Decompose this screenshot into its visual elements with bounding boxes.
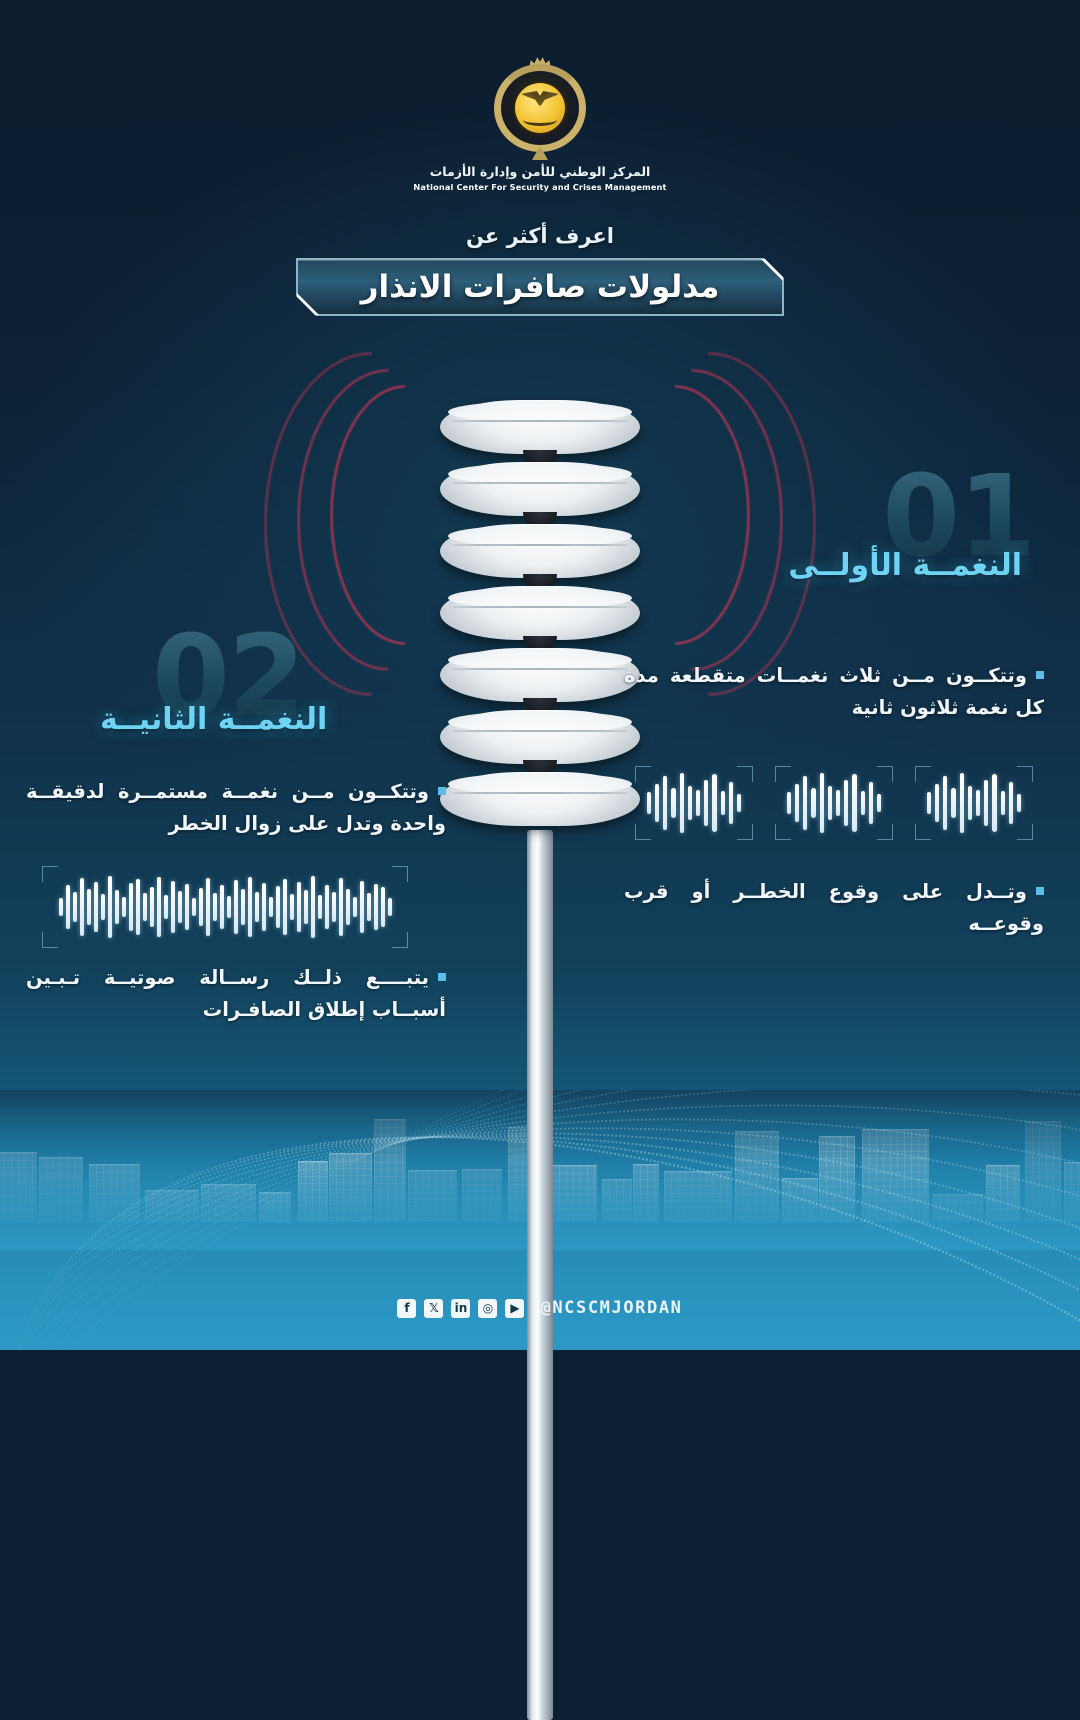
speaker-band bbox=[452, 544, 628, 546]
siren-pole bbox=[527, 830, 553, 1720]
waveform-bar bbox=[360, 881, 364, 933]
jordan-coat-of-arms-icon bbox=[492, 58, 588, 154]
waveform-bar bbox=[828, 786, 832, 820]
waveform-bar bbox=[688, 786, 692, 820]
siren-speaker-disc bbox=[440, 648, 640, 702]
footer-social-bar: f𝕏in◎▶ @NCSCMJORDAN bbox=[0, 1298, 1080, 1318]
waveform-bar bbox=[968, 786, 972, 820]
social-handle: @NCSCMJORDAN bbox=[540, 1298, 682, 1318]
speaker-body bbox=[440, 710, 640, 764]
waveform-bars bbox=[927, 772, 1021, 834]
waveform-bar bbox=[820, 773, 824, 833]
siren-speaker-disc bbox=[440, 462, 640, 516]
speaker-body bbox=[440, 772, 640, 826]
waveform-bar bbox=[87, 889, 91, 925]
page-title: مدلولات صافرات الانذار bbox=[298, 260, 782, 314]
waveform-bar bbox=[663, 776, 667, 830]
siren-speaker-disc bbox=[440, 586, 640, 640]
scimitar-icon bbox=[523, 114, 557, 126]
youtube-icon[interactable]: ▶ bbox=[505, 1299, 524, 1318]
waveform-bar bbox=[192, 898, 196, 916]
waveform-bar bbox=[976, 790, 980, 816]
waveform-bar bbox=[66, 885, 70, 929]
section-02-bullet-2: يتبــــع ذلــك رســالة صوتيــة تـبـين أس… bbox=[26, 962, 446, 1025]
tone1-waveform-3 bbox=[915, 766, 1033, 840]
bullet-text: وتتكــون مــن ثلاث نغمــات متقطعة مدة كل… bbox=[624, 664, 1044, 719]
waveform-bar bbox=[1017, 794, 1021, 812]
waveform-bar bbox=[927, 792, 931, 814]
bullet-text: وتتكــون مــن نغمــة مستمــرة لدقيقــة و… bbox=[26, 780, 446, 835]
waveform-bar bbox=[318, 895, 322, 919]
waveform-bar bbox=[80, 878, 84, 936]
siren-speaker-disc bbox=[440, 524, 640, 578]
waveform-bar bbox=[157, 877, 161, 937]
section-02-bullet-1: وتتكــون مــن نغمــة مستمــرة لدقيقــة و… bbox=[26, 776, 446, 839]
waveform-bar bbox=[795, 784, 799, 822]
siren-speaker-disc bbox=[440, 772, 640, 826]
section-title-01: النغمــة الأولــى bbox=[788, 548, 1022, 583]
waveform-bar bbox=[655, 784, 659, 822]
waveform-bar bbox=[276, 886, 280, 928]
section-01-bullet-2: وتــدل على وقوع الخطــر أو قرب وقوعــه bbox=[624, 876, 1044, 939]
x-twitter-icon[interactable]: 𝕏 bbox=[424, 1299, 443, 1318]
waveform-bar bbox=[178, 891, 182, 923]
waveform-bar bbox=[671, 788, 675, 818]
speaker-band bbox=[452, 482, 628, 484]
waveform-bar bbox=[255, 892, 259, 922]
waveform-bar bbox=[206, 878, 210, 936]
waveform-bar bbox=[94, 882, 98, 932]
speaker-band bbox=[452, 420, 628, 422]
waveform-bar bbox=[1009, 782, 1013, 824]
waveform-bar bbox=[381, 887, 385, 927]
waveform-bar bbox=[199, 888, 203, 926]
tone1-waveform-1 bbox=[635, 766, 753, 840]
waveform-bar bbox=[101, 894, 105, 920]
headline-title-bar: مدلولات صافرات الانذار bbox=[296, 258, 784, 316]
social-icons: f𝕏in◎▶ bbox=[397, 1299, 524, 1318]
org-logo-block: المركز الوطني للأمن وإدارة الأزمات Natio… bbox=[0, 58, 1080, 192]
tone1-waveform-2 bbox=[775, 766, 893, 840]
waveform-bar bbox=[290, 894, 294, 920]
waveform-bar bbox=[943, 776, 947, 830]
bullet-text: وتــدل على وقوع الخطــر أو قرب وقوعــه bbox=[624, 880, 1044, 935]
waveform-bar bbox=[984, 780, 988, 826]
waveform-bar bbox=[129, 883, 133, 931]
waveform-bar bbox=[803, 776, 807, 830]
waveform-bar bbox=[696, 790, 700, 816]
waveform-bar bbox=[869, 782, 873, 824]
waveform-bar bbox=[729, 782, 733, 824]
linkedin-icon[interactable]: in bbox=[451, 1299, 470, 1318]
waveform-bar bbox=[353, 897, 357, 917]
speaker-band bbox=[452, 668, 628, 670]
waveform-bar bbox=[227, 896, 231, 918]
waveform-bar bbox=[143, 893, 147, 921]
waveform-bar bbox=[136, 879, 140, 935]
waveform-bar bbox=[311, 876, 315, 938]
facebook-icon[interactable]: f bbox=[397, 1299, 416, 1318]
waveform-bar bbox=[150, 887, 154, 927]
waveform-bar bbox=[248, 877, 252, 937]
waveform-bar bbox=[241, 889, 245, 925]
bullet-dot bbox=[438, 787, 446, 795]
waveform-bar bbox=[339, 878, 343, 936]
siren-speaker-disc bbox=[440, 400, 640, 454]
speaker-body bbox=[440, 524, 640, 578]
speaker-band bbox=[452, 792, 628, 794]
waveform-bar bbox=[297, 882, 301, 932]
waveform-bar bbox=[346, 889, 350, 925]
waveform-bar bbox=[1001, 791, 1005, 815]
waveform-bar bbox=[935, 784, 939, 822]
waveform-bar bbox=[115, 890, 119, 924]
bullet-text: يتبــــع ذلــك رســالة صوتيــة تـبـين أس… bbox=[26, 966, 446, 1021]
waveform-bar bbox=[388, 898, 392, 916]
waveform-bar bbox=[185, 884, 189, 930]
bullet-dot bbox=[438, 973, 446, 981]
waveform-bar bbox=[992, 774, 996, 832]
waveform-bar bbox=[304, 890, 308, 924]
waveform-bar bbox=[283, 879, 287, 935]
waveform-bar bbox=[680, 773, 684, 833]
waveform-bar bbox=[647, 792, 651, 814]
section-01-bullet-1: وتتكــون مــن ثلاث نغمــات متقطعة مدة كل… bbox=[624, 660, 1044, 723]
waveform-bar bbox=[951, 788, 955, 818]
waveform-bar bbox=[367, 893, 371, 921]
waveform-bars bbox=[787, 772, 881, 834]
org-name-english: National Center For Security and Crises … bbox=[0, 182, 1080, 192]
waveform-bar bbox=[811, 788, 815, 818]
speaker-body bbox=[440, 648, 640, 702]
bullet-dot bbox=[1036, 887, 1044, 895]
speaker-body bbox=[440, 586, 640, 640]
waveform-bar bbox=[332, 892, 336, 922]
waveform-bar bbox=[737, 794, 741, 812]
waveform-bar bbox=[787, 792, 791, 814]
waveform-bar bbox=[122, 897, 126, 917]
instagram-icon[interactable]: ◎ bbox=[478, 1299, 497, 1318]
waveform-bar bbox=[844, 780, 848, 826]
waveform-bars bbox=[54, 872, 396, 942]
waveform-bar bbox=[861, 791, 865, 815]
waveform-bar bbox=[220, 885, 224, 929]
waveform-bar bbox=[108, 876, 112, 938]
waveform-bar bbox=[164, 895, 168, 919]
waveform-bar bbox=[213, 893, 217, 921]
infographic-poster: المركز الوطني للأمن وإدارة الأزمات Natio… bbox=[0, 0, 1080, 1350]
speaker-band bbox=[452, 730, 628, 732]
waveform-bar bbox=[234, 880, 238, 934]
tone2-waveform bbox=[42, 866, 408, 948]
section-title-02: النغمــة الثانيــة bbox=[100, 702, 327, 737]
bullet-dot bbox=[1036, 671, 1044, 679]
waveform-bars bbox=[647, 772, 741, 834]
waveform-bar bbox=[325, 885, 329, 929]
waveform-bar bbox=[836, 790, 840, 816]
waveform-bar bbox=[262, 883, 266, 931]
waveform-bar bbox=[960, 773, 964, 833]
headline-kicker: اعرف أكثر عن bbox=[0, 224, 1080, 248]
waveform-bar bbox=[852, 774, 856, 832]
waveform-bar bbox=[269, 897, 273, 917]
waveform-bar bbox=[721, 791, 725, 815]
waveform-bar bbox=[171, 881, 175, 933]
speaker-body bbox=[440, 462, 640, 516]
waveform-bar bbox=[877, 794, 881, 812]
siren-speaker-disc bbox=[440, 710, 640, 764]
speaker-body bbox=[440, 400, 640, 454]
waveform-bar bbox=[73, 892, 77, 922]
waveform-bar bbox=[374, 884, 378, 930]
waveform-bar bbox=[712, 774, 716, 832]
waveform-bar bbox=[59, 898, 63, 916]
speaker-band bbox=[452, 606, 628, 608]
waveform-bar bbox=[704, 780, 708, 826]
org-name-arabic: المركز الوطني للأمن وإدارة الأزمات bbox=[0, 164, 1080, 179]
